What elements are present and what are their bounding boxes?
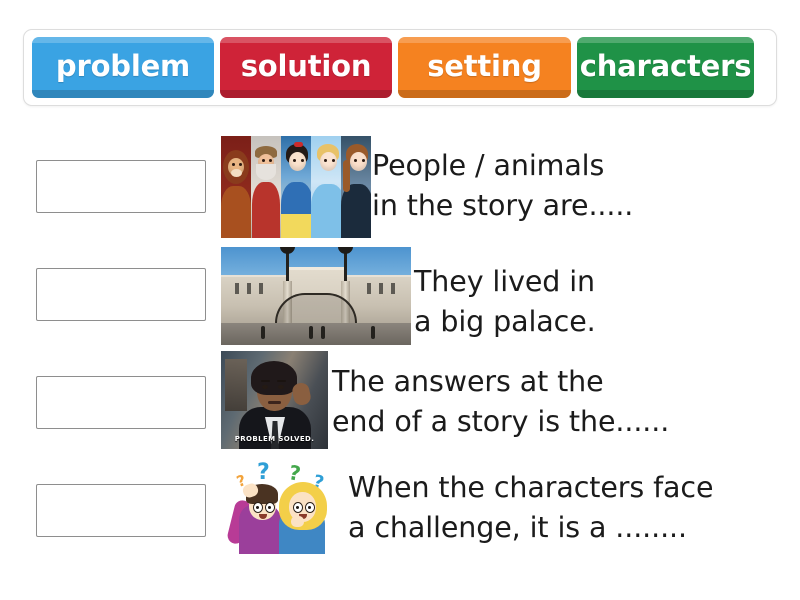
drop-zone-3[interactable] (36, 376, 206, 429)
boy-pupil (268, 506, 271, 509)
row-image-problem-solved-meme: PROBLEM SOLVED. (221, 351, 328, 449)
drop-zone-2[interactable] (36, 268, 206, 321)
character-snow-white (281, 136, 311, 238)
meme-eye (262, 385, 268, 389)
meme-caption: PROBLEM SOLVED. (221, 435, 328, 443)
match-row: ? ? ? ? (0, 446, 800, 554)
draggable-tile-characters[interactable]: characters (577, 37, 754, 98)
mufasa-eye (232, 163, 235, 166)
question-mark-icon: ? (287, 462, 302, 484)
tile-shadow (32, 90, 214, 98)
cinderella-eye (324, 159, 327, 162)
palace-window (247, 283, 251, 294)
palace-window (379, 283, 383, 294)
dwarf-eye (262, 159, 265, 162)
draggable-tile-problem[interactable]: problem (32, 37, 214, 98)
palace-window (259, 283, 263, 294)
word-tile-tray: problem solution setting characters (23, 29, 777, 106)
cinderella-eye (332, 159, 335, 162)
row-image-buckingham-palace (221, 247, 411, 345)
tile-highlight (32, 37, 214, 43)
palace-window (367, 283, 371, 294)
tile-highlight (220, 37, 392, 43)
meme-mouth (268, 401, 281, 404)
draggable-tile-setting[interactable]: setting (398, 37, 571, 98)
match-row: PROBLEM SOLVED. The answers at the end o… (0, 338, 800, 446)
match-row-list: People / animals in the story are..... (0, 122, 800, 554)
row-image-disney-characters (221, 136, 371, 238)
girl-pupil (308, 506, 311, 509)
meme-eye (278, 385, 284, 389)
character-anna (341, 136, 371, 238)
word-tile-list: problem solution setting characters (24, 30, 776, 105)
drop-zone-1[interactable] (36, 160, 206, 213)
tile-shadow (577, 90, 754, 98)
draggable-tile-solution[interactable]: solution (220, 37, 392, 98)
row-prompt-text: The answers at the end of a story is the… (332, 362, 669, 442)
tile-label: setting (427, 52, 542, 84)
meme-eyebrow (261, 380, 270, 382)
tile-label: problem (56, 52, 190, 84)
palace-window (391, 283, 395, 294)
tile-shadow (220, 90, 392, 98)
character-mufasa (221, 136, 251, 238)
mufasa-eye (239, 163, 242, 166)
tile-highlight (398, 37, 571, 43)
tile-shadow (398, 90, 571, 98)
drop-zone-4[interactable] (36, 484, 206, 537)
row-prompt-text: They lived in a big palace. (414, 262, 596, 342)
dwarf-eye (269, 159, 272, 162)
girl-pupil (296, 506, 299, 509)
tile-label: characters (580, 52, 752, 84)
dwarf-beard (256, 164, 276, 180)
mufasa-snout (231, 169, 242, 177)
snow-white-bow (294, 142, 303, 147)
question-mark-icon: ? (257, 462, 270, 484)
row-image-confused-kids: ? ? ? ? (221, 458, 349, 554)
girl-hand-at-chin (291, 516, 304, 527)
character-cinderella (311, 136, 341, 238)
meme-background-shelf (225, 359, 247, 411)
gate-lamp (344, 251, 347, 281)
row-prompt-text: When the characters face a challenge, it… (348, 468, 713, 548)
anna-braid (343, 160, 350, 192)
anna-eye (362, 159, 365, 162)
snow-white-eye (293, 159, 296, 162)
boy-pupil (256, 506, 259, 509)
row-prompt-text: People / animals in the story are..... (372, 146, 633, 226)
match-row: People / animals in the story are..... (0, 122, 800, 230)
match-row: They lived in a big palace. (0, 230, 800, 338)
gate-lamp (286, 251, 289, 281)
tile-label: solution (241, 52, 372, 84)
anna-eye (354, 159, 357, 162)
meme-hair (251, 361, 297, 395)
activity-stage: problem solution setting characters (0, 0, 800, 600)
tile-highlight (577, 37, 754, 43)
meme-eyebrow (277, 380, 286, 382)
palace-window (235, 283, 239, 294)
snow-white-eye (301, 159, 304, 162)
character-dwarf (251, 136, 281, 238)
